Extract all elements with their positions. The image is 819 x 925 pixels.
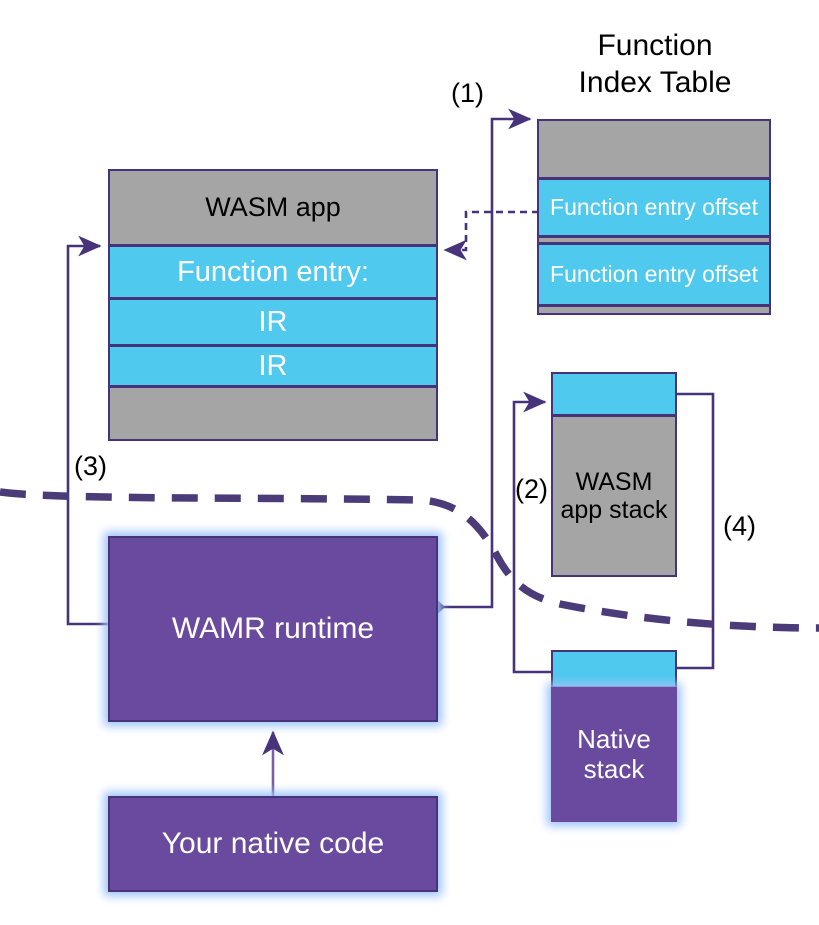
wasm-app-stack-body: WASM app stack — [551, 415, 677, 577]
step-label-3: (3) — [74, 451, 107, 482]
fit-title-line-1: Function — [540, 28, 770, 65]
step-label-1: (1) — [451, 78, 484, 109]
native-stack-body: Native stack — [551, 687, 677, 822]
fit-title-line-2: Index Table — [540, 65, 770, 102]
function-index-table-title: Function Index Table — [540, 28, 770, 101]
wasm-app-header: WASM app — [108, 169, 438, 246]
wasm-app-ir-row[interactable]: IR — [108, 298, 438, 346]
wire-step-3 — [68, 246, 108, 624]
function-index-table-header-block — [537, 119, 771, 179]
function-index-table-row[interactable]: Function entry offset — [537, 243, 771, 306]
function-index-table-divider — [537, 305, 771, 315]
wasm-app-function-entry-row[interactable]: Function entry: — [108, 245, 438, 299]
step-label-4: (4) — [723, 511, 756, 542]
step-label-2: (2) — [515, 474, 548, 505]
function-index-table-row[interactable]: Function entry offset — [537, 178, 771, 237]
wasm-app-ir-row[interactable]: IR — [108, 345, 438, 387]
diagram-canvas: Function Index Table Function entry offs… — [0, 0, 819, 925]
wasm-app-tail-block — [108, 386, 438, 441]
wamr-runtime-block: WAMR runtime — [108, 536, 438, 722]
wasm-app-stack-top-frame[interactable] — [551, 372, 677, 416]
native-stack-top-frame[interactable] — [551, 650, 677, 688]
wire-step-1 — [431, 119, 530, 614]
your-native-code-block: Your native code — [108, 796, 438, 892]
